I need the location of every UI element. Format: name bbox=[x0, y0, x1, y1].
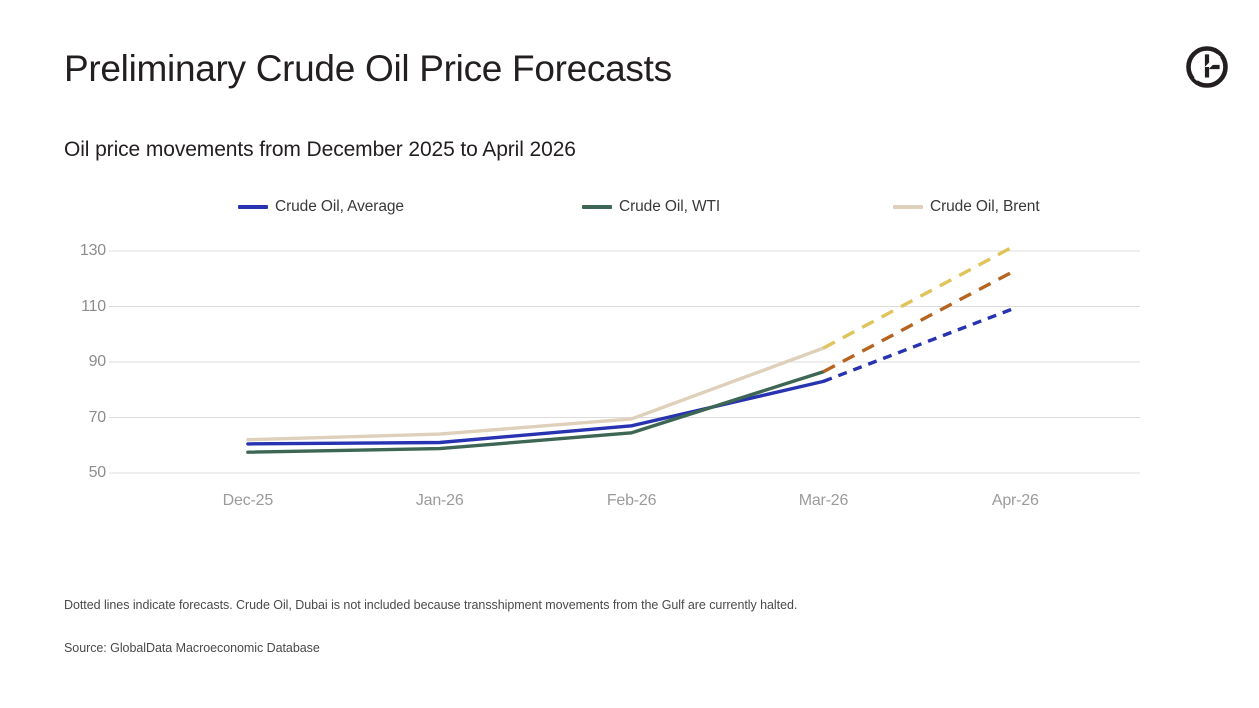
legend-label-average: Crude Oil, Average bbox=[275, 198, 404, 216]
y-axis-tick-label: 130 bbox=[60, 242, 106, 260]
page-subtitle: Oil price movements from December 2025 t… bbox=[64, 138, 576, 162]
series-forecast-crude-oil-average bbox=[823, 308, 1015, 382]
chart-source: Source: GlobalData Macroeconomic Databas… bbox=[64, 641, 320, 655]
series-line-crude-oil-brent bbox=[248, 348, 824, 440]
y-axis-tick-label: 70 bbox=[60, 409, 106, 427]
legend-item-brent[interactable]: Crude Oil, Brent bbox=[893, 198, 1040, 216]
legend-item-average[interactable]: Crude Oil, Average bbox=[238, 198, 404, 216]
x-axis-tick-label: Apr-26 bbox=[950, 492, 1080, 510]
legend-swatch-average bbox=[238, 205, 268, 209]
x-axis-tick-label: Feb-26 bbox=[567, 492, 697, 510]
legend-item-wti[interactable]: Crude Oil, WTI bbox=[582, 198, 720, 216]
series-line-crude-oil-average bbox=[248, 381, 824, 444]
series-line-crude-oil-wti bbox=[248, 372, 824, 453]
legend-label-brent: Crude Oil, Brent bbox=[930, 198, 1040, 216]
chart-page: Preliminary Crude Oil Price Forecasts Oi… bbox=[0, 0, 1259, 708]
globaldata-g-logo-icon bbox=[1186, 46, 1228, 88]
x-axis-tick-label: Mar-26 bbox=[758, 492, 888, 510]
y-axis-tick-label: 90 bbox=[60, 353, 106, 371]
legend-swatch-brent bbox=[893, 205, 923, 209]
x-axis-tick-label: Jan-26 bbox=[375, 492, 505, 510]
page-title: Preliminary Crude Oil Price Forecasts bbox=[64, 48, 672, 90]
chart-gridlines bbox=[109, 251, 1140, 473]
y-axis-tick-label: 110 bbox=[60, 298, 106, 316]
chart-legend: Crude Oil, Average Crude Oil, WTI Crude … bbox=[238, 198, 1068, 222]
legend-label-wti: Crude Oil, WTI bbox=[619, 198, 720, 216]
y-axis-tick-label: 50 bbox=[60, 464, 106, 482]
chart-series-layer bbox=[248, 246, 1015, 453]
x-axis-tick-label: Dec-25 bbox=[183, 492, 313, 510]
series-forecast-crude-oil-brent bbox=[823, 246, 1015, 349]
chart-footnote: Dotted lines indicate forecasts. Crude O… bbox=[64, 598, 797, 612]
legend-swatch-wti bbox=[582, 205, 612, 209]
series-forecast-crude-oil-wti bbox=[823, 270, 1015, 371]
